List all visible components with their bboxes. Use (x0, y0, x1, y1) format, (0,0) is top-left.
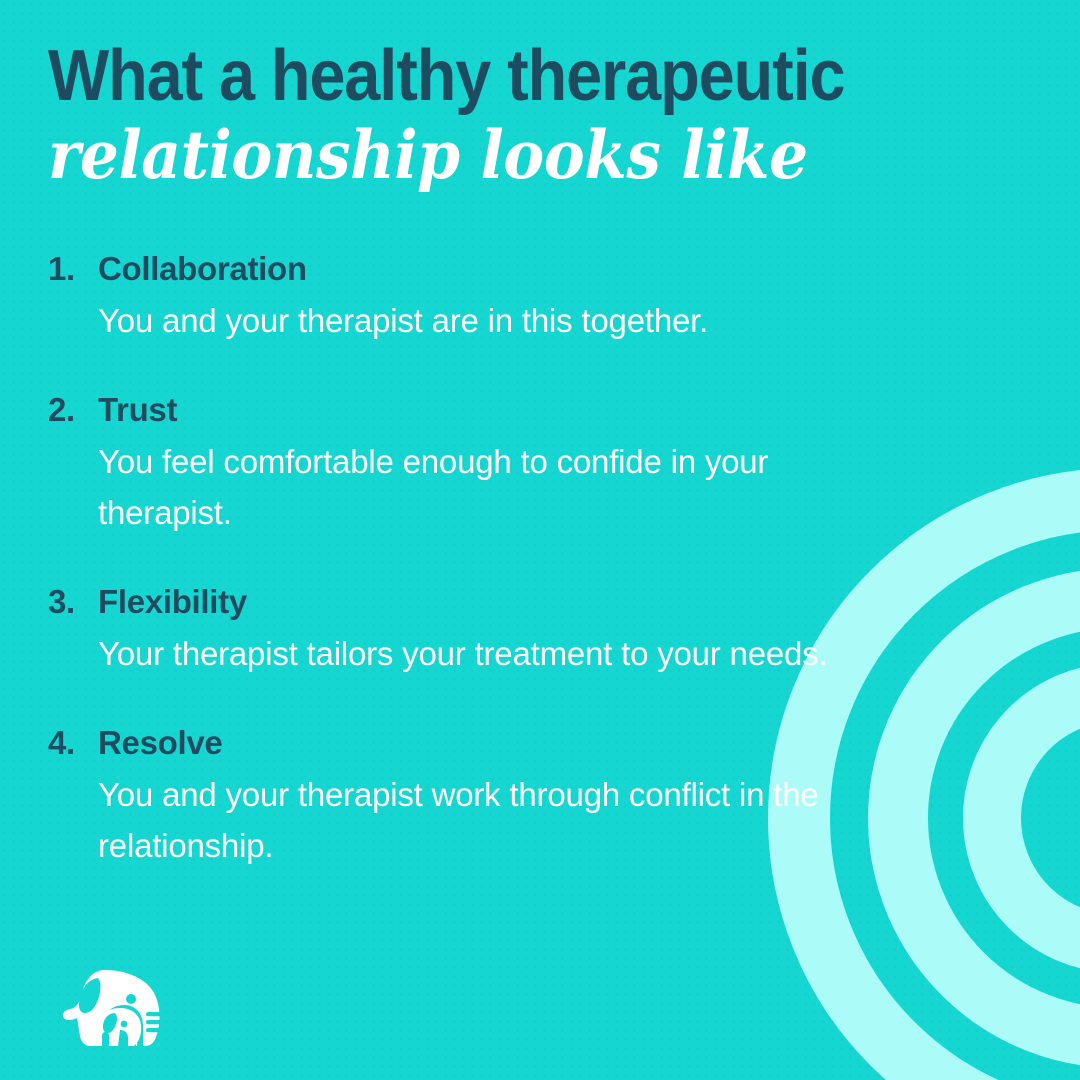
list-item-number: 1. (48, 248, 98, 289)
list-item-heading: 4. Resolve (48, 722, 848, 763)
list-item-body: You and your therapist are in this toget… (98, 296, 838, 347)
title-line-primary: What a healthy therapeutic (48, 40, 912, 113)
ring-middle (868, 568, 1080, 1068)
list-item-number: 3. (48, 581, 98, 622)
elephant-logo (62, 962, 170, 1054)
list-item-heading: 1. Collaboration (48, 248, 848, 289)
list-item-title: Trust (98, 389, 177, 430)
title-line-secondary: relationship looks like (48, 117, 941, 195)
list-item-body: Your therapist tailors your treatment to… (98, 629, 838, 680)
list-item-number: 2. (48, 389, 98, 430)
list-item-title: Flexibility (98, 581, 247, 622)
list-item: 1. Collaboration You and your therapist … (48, 248, 848, 347)
list-item: 3. Flexibility Your therapist tailors yo… (48, 581, 848, 680)
list-item-title: Resolve (98, 722, 222, 763)
list-item-body: You and your therapist work through conf… (98, 770, 838, 872)
list-item-number: 4. (48, 722, 98, 763)
page-title: What a healthy therapeutic relationship … (48, 40, 1008, 195)
infographic-card: What a healthy therapeutic relationship … (0, 0, 1080, 1080)
list-item-title: Collaboration (98, 248, 307, 289)
list-item-body: You feel comfortable enough to confide i… (98, 437, 838, 539)
list-item: 4. Resolve You and your therapist work t… (48, 722, 848, 872)
ring-inner (963, 663, 1080, 973)
elephant-and-calf-icon (62, 962, 170, 1054)
list-item-heading: 2. Trust (48, 389, 848, 430)
list-item-heading: 3. Flexibility (48, 581, 848, 622)
list-item: 2. Trust You feel comfortable enough to … (48, 389, 848, 539)
numbered-list: 1. Collaboration You and your therapist … (48, 248, 848, 872)
